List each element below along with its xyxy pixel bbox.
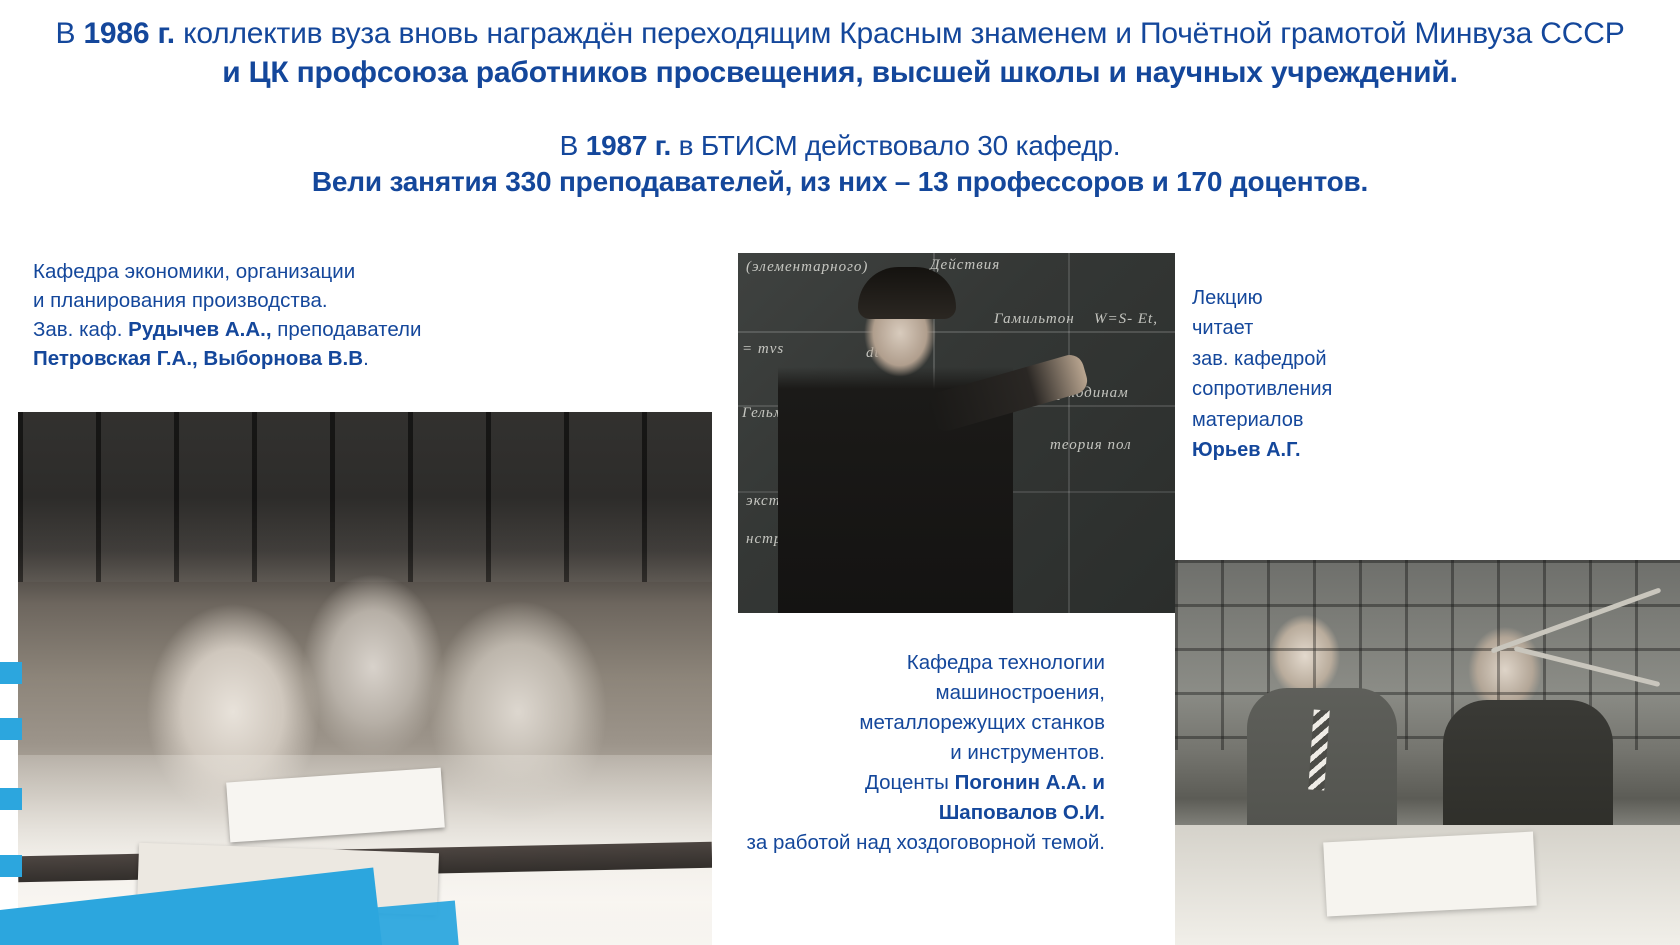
label-teachers: преподаватели <box>272 318 422 341</box>
caption-economics-line-4: Петровская Г.А., Выборнова В.В. <box>33 344 463 373</box>
caption-lecture-line-2: читает <box>1192 313 1422 343</box>
photo-techno-drawing-sheet <box>1323 832 1537 917</box>
slide-root: В 1986 г. коллектив вуза вновь награждён… <box>0 0 1680 945</box>
headline-line-2: и ЦК профсоюза работников просвещения, в… <box>18 53 1662 92</box>
headline-paragraph-2: В 1987 г. в БТИСМ действовало 30 кафедр.… <box>0 128 1680 201</box>
headline-line-4: Вели занятия 330 преподавателей, из них … <box>18 164 1662 200</box>
headline-line-1: В 1986 г. коллектив вуза вновь награждён… <box>18 14 1662 53</box>
name-shapovalov: Шаповалов О.И. <box>939 801 1105 824</box>
caption-economics-line-2: и планирования производства. <box>33 286 463 315</box>
caption-lecture-line-5: материалов <box>1192 405 1422 435</box>
decor-blue-stripe-3 <box>0 788 22 810</box>
caption-lecture-line-1: Лекцию <box>1192 283 1422 313</box>
label-head-of-dept: Зав. каф. <box>33 318 128 341</box>
caption-lecture: Лекцию читает зав. кафедрой сопротивлени… <box>1192 283 1422 465</box>
photo-economics-department <box>18 412 712 945</box>
year-1987: 1987 г. <box>586 130 671 161</box>
caption-economics-line-3: Зав. каф. Рудычев А.А., преподаватели <box>33 315 463 344</box>
photo-economics-backdrop <box>18 412 712 582</box>
headline-prefix-1987: В <box>560 130 586 161</box>
caption-economics-line-1: Кафедра экономики, организации <box>33 257 463 286</box>
chalk-text-6: W=S- Et, <box>1094 311 1158 328</box>
photo-lecture-blackboard: (элементарного) Действия = mvs dt Гамиль… <box>738 253 1175 613</box>
photo-technology-department <box>1175 560 1680 945</box>
name-rudychev: Рудычев А.А., <box>128 318 271 341</box>
name-yuriev: Юрьев А.Г. <box>1192 435 1422 465</box>
label-docents: Доценты <box>865 771 955 794</box>
decor-blue-stripe-1 <box>0 662 22 684</box>
lecturer-figure <box>778 281 1013 613</box>
headline-prefix-1986: В <box>55 17 83 50</box>
chalk-text-2: Действия <box>930 257 1000 274</box>
decor-blue-stripe-4 <box>0 855 22 877</box>
headline-line-3: В 1987 г. в БТИСМ действовало 30 кафедр. <box>18 128 1662 164</box>
caption-lecture-line-3: зав. кафедрой <box>1192 344 1422 374</box>
headline-paragraph-1: В 1986 г. коллектив вуза вновь награждён… <box>0 14 1680 92</box>
caption-lecture-line-4: сопротивления <box>1192 374 1422 404</box>
year-1986: 1986 г. <box>83 17 175 50</box>
chalk-text-9: теория пол <box>1050 437 1132 454</box>
caption-economics-period: . <box>363 347 369 370</box>
caption-economics-department: Кафедра экономики, организации и планиро… <box>33 257 463 373</box>
decor-blue-stripe-2 <box>0 718 22 740</box>
name-pogonin: Погонин А.А. и <box>955 771 1105 794</box>
headline-body-2: в БТИСМ действовало 30 кафедр. <box>671 130 1120 161</box>
chalk-text-1: (элементарного) <box>746 259 868 276</box>
headline-body-1: коллектив вуза вновь награждён переходящ… <box>175 17 1625 50</box>
names-petrovskaya-vybornova: Петровская Г.А., Выборнова В.В <box>33 347 363 370</box>
